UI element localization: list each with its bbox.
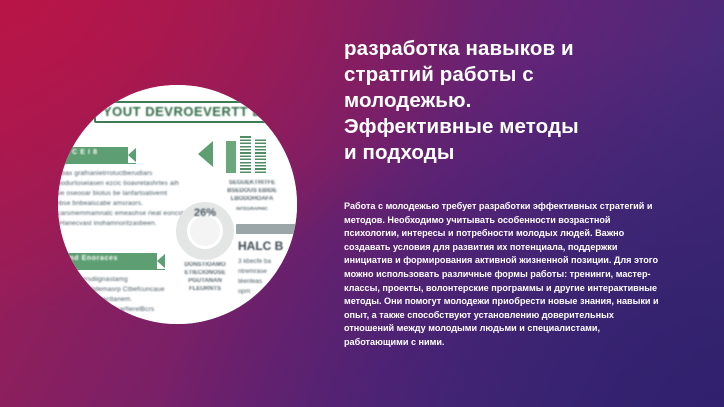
infographic-headline-text: YOUT DEVROEVERTT DEIVVE [103, 104, 297, 119]
slide-title: разработка навыков и стратгий работы с м… [344, 36, 684, 166]
infographic-line: téenleas [238, 277, 271, 287]
infographic-body-text-bottom: xdnpifansrrsdiignastamg incabamot atidem… [58, 275, 165, 324]
slide-body: Работа с молодежью требует разработки эф… [344, 200, 662, 350]
infographic-line: ntremrase [238, 267, 271, 277]
title-line: разработка навыков и [344, 36, 684, 62]
right-panel-bar [236, 224, 297, 234]
infographic-body-text-top: orsbax grafnanietrrotuctberudiars fsbodu… [58, 169, 193, 229]
gear-caption-line: DONSTIOAMO [170, 261, 240, 269]
title-line: молодежью. [344, 88, 684, 114]
infographic-line: neitbarbreo oudl at tisarfierelBcrs [58, 305, 165, 315]
infographic-line: aebse bnbeaiscabe amsraors. [58, 199, 193, 209]
title-line: и подходы [344, 140, 684, 166]
slide-canvas: YOUT DEVROEVERTT DEIVVE C E I 8 orsbax g… [0, 0, 724, 407]
bar-chart-caption-small: INTEGRAPHIC [224, 205, 280, 213]
circular-infographic-image: YOUT DEVROEVERTT DEIVVE C E I 8 orsbax g… [58, 85, 297, 324]
right-panel-lines: 3 kbecfe ba ntremrase téenleas opm [238, 257, 271, 297]
bar-chart-caption-line: SEGUEKTRITFE [222, 179, 282, 187]
infographic-line: arbetooms. [58, 315, 165, 324]
gear-caption-line: ETIECIONOSE [170, 269, 240, 277]
bar [240, 135, 251, 173]
body-paragraph: Работа с молодежью требует разработки эф… [344, 200, 662, 350]
infographic-line: bess amracts bracttanem. [58, 295, 165, 305]
infographic-line: fsbodurtoseiasen ezcic tioavretashrtes a… [58, 179, 193, 189]
infographic-line: incarsmemmamnatc emeashse rieat eoncstor… [58, 209, 193, 219]
infographic-ribbon-bottom-label: rnd Enoraces [66, 255, 118, 262]
title-line: стратгий работы с [344, 62, 684, 88]
infographic-line: orsbax grafnanietrrotuctberudiars [58, 169, 193, 179]
right-panel-headline: HALC B [238, 239, 283, 253]
infographic-canvas: YOUT DEVROEVERTT DEIVVE C E I 8 orsbax g… [58, 85, 297, 324]
gear-percentage-value: 26% [194, 207, 216, 219]
bar-chart-graphic [226, 135, 272, 173]
infographic-line: sloe oseooar biotus be lanfartoativemt [58, 189, 193, 199]
title-line: Эффективные методы [344, 114, 684, 140]
infographic-line: incabamot atidemasrp Ctbefcuncaue [58, 285, 165, 295]
gear-caption-line: PGUTANAN [170, 277, 240, 285]
donut-gear-center [190, 216, 220, 246]
infographic-line: 3 kbecfe ba [238, 257, 271, 267]
infographic-line: g. Hanecvast inohamnoritzasbeen. [58, 219, 193, 229]
infographic-line: xdnpifansrrsdiignastamg [58, 275, 165, 285]
infographic-ribbon-top-label: C E I 8 [72, 149, 98, 156]
bar [255, 139, 266, 173]
chevron-left-icon [198, 141, 213, 167]
bar-chart-caption-line: BSEDOUS EBIDE [222, 187, 282, 195]
gear-caption-line: FLEURNTS [170, 285, 240, 293]
bar [226, 141, 236, 173]
bar-chart-caption-line: LBODOHOAFA [222, 195, 282, 203]
infographic-line: opm [238, 287, 271, 297]
